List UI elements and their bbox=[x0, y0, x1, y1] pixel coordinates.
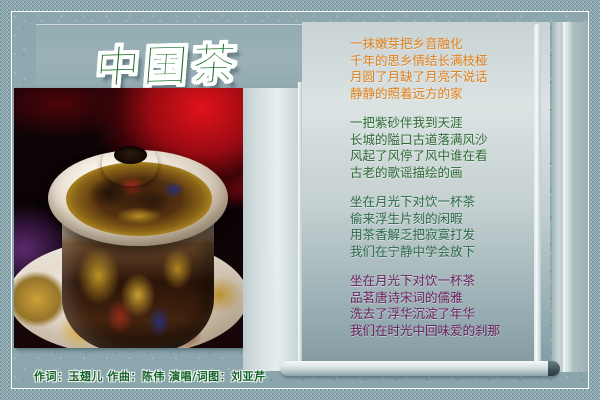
right-vertical-rod bbox=[534, 24, 541, 372]
tea-cup-photo bbox=[14, 88, 243, 348]
lyrics-line: 长城的隘口古道落满风沙 bbox=[302, 132, 550, 149]
lyrics-line: 我们在宁静中学会放下 bbox=[302, 244, 550, 261]
frosted-divider-panel bbox=[243, 88, 301, 371]
lyrics-panel: 一抹嫩芽把乡音融化 千年的思乡情结长满枝桠 月圆了月缺了月亮不说话 静静的照着远… bbox=[302, 22, 550, 372]
lyrics-stanza: 坐在月光下对饮一杯茶 偷来浮生片刻的闲暇 用茶香解乏把寂寞打发 我们在宁静中学会… bbox=[302, 194, 550, 260]
lyrics-line: 千年的思乡情结长满枝桠 bbox=[302, 53, 550, 70]
lyrics-line: 我们在时光中回味爱的刹那 bbox=[302, 323, 550, 340]
lyrics-stanza: 一抹嫩芽把乡音融化 千年的思乡情结长满枝桠 月圆了月缺了月亮不说话 静静的照着远… bbox=[302, 36, 550, 102]
lyrics-line: 洗去了浮华沉淀了年华 bbox=[302, 306, 550, 323]
lyrics-line: 坐在月光下对饮一杯茶 bbox=[302, 194, 550, 211]
lyrics-line: 一把紫砂伴我到天涯 bbox=[302, 115, 550, 132]
page-root: 中国茶 一抹嫩芽把乡音融化 千年的思乡情结长满枝桠 月圆了月缺了月亮不说话 静静… bbox=[0, 0, 600, 400]
lyrics-line: 古老的歌谣描绘的画 bbox=[302, 165, 550, 182]
right-ornament-highlight bbox=[563, 22, 574, 372]
bottom-horizontal-rod bbox=[280, 361, 558, 376]
lyrics-line: 偷来浮生片刻的闲暇 bbox=[302, 211, 550, 228]
lyrics-line: 坐在月光下对饮一杯茶 bbox=[302, 273, 550, 290]
lid-knob-hole bbox=[114, 146, 147, 164]
page-title: 中国茶 bbox=[93, 28, 242, 96]
main-card: 中国茶 一抹嫩芽把乡音融化 千年的思乡情结长满枝桠 月圆了月缺了月亮不说话 静静… bbox=[11, 11, 589, 389]
lyrics-line: 一抹嫩芽把乡音融化 bbox=[302, 36, 550, 53]
lyrics-line: 静静的照着远方的家 bbox=[302, 86, 550, 103]
credits-text: 作词：玉翅儿 作曲：陈伟 演唱/词图：刘亚芹 bbox=[34, 368, 266, 384]
lyrics-stanza: 一把紫砂伴我到天涯 长城的隘口古道落满风沙 风起了风停了风中谁在看 古老的歌谣描… bbox=[302, 115, 550, 181]
bottom-rod-end-cap bbox=[548, 361, 560, 376]
cup-body-pattern bbox=[62, 228, 214, 348]
lyrics-line: 品茗唐诗宋词的儒雅 bbox=[302, 290, 550, 307]
lyrics-stanza: 坐在月光下对饮一杯茶 品茗唐诗宋词的儒雅 洗去了浮华沉淀了年华 我们在时光中回味… bbox=[302, 273, 550, 339]
lyrics-line: 用茶香解乏把寂寞打发 bbox=[302, 227, 550, 244]
lyrics-line: 月圆了月缺了月亮不说话 bbox=[302, 69, 550, 86]
lyrics-line: 风起了风停了风中谁在看 bbox=[302, 148, 550, 165]
footer-bar: 作词：玉翅儿 作曲：陈伟 演唱/词图：刘亚芹 bbox=[14, 364, 278, 389]
